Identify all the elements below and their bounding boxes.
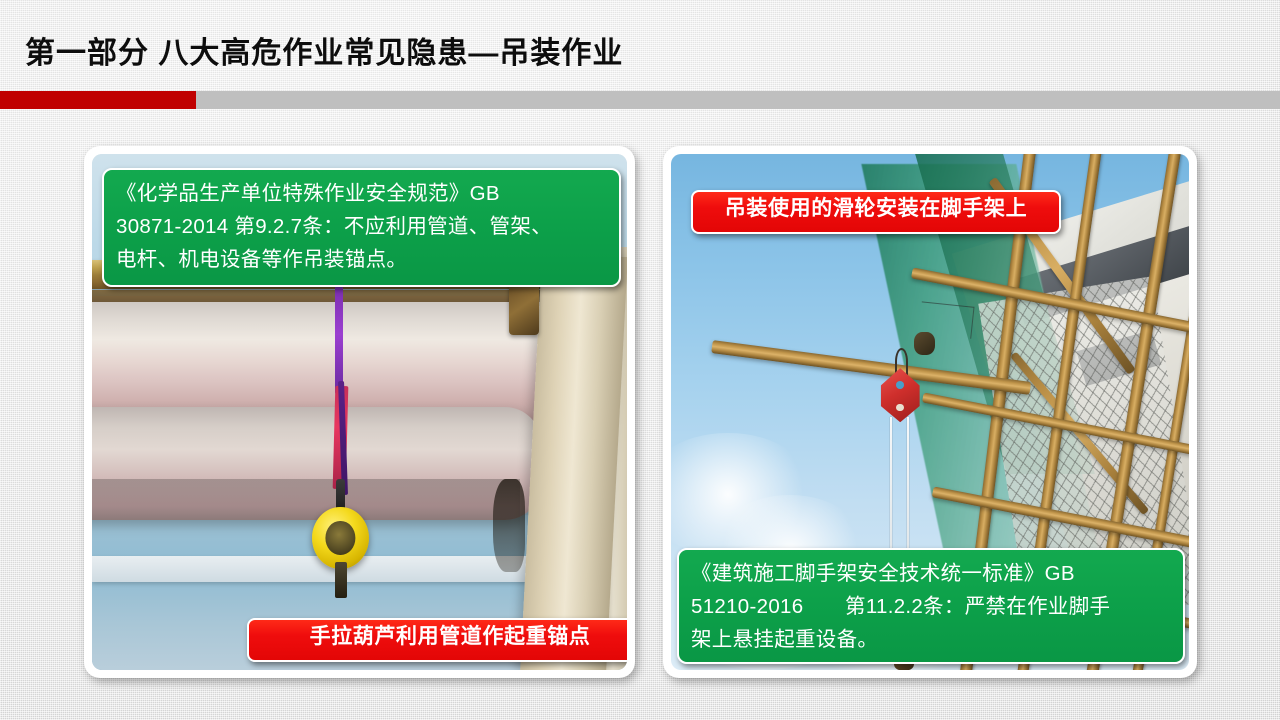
standard-note-right: 《建筑施工脚手架安全技术统一标准》GB 51210-2016 第11.2.2条：… (677, 548, 1185, 664)
pipe-shadow (92, 479, 520, 531)
hoist-chain (335, 562, 347, 598)
page-title: 第一部分 八大高危作业常见隐患—吊装作业 (25, 28, 623, 72)
slide-canvas: 第一部分 八大高危作业常见隐患—吊装作业 《化学品生产单位特殊 (0, 0, 1280, 720)
standard-note-left: 《化学品生产单位特殊作业安全规范》GB 30871-2014 第9.2.7条：不… (102, 168, 621, 287)
pulley-sheave-upper (896, 381, 904, 389)
chain-hoist-wheel (326, 521, 355, 555)
beam-clamp (509, 283, 538, 335)
pulley-sheave-lower (896, 404, 904, 412)
hazard-caption-right: 吊装使用的滑轮安装在脚手架上 (691, 190, 1061, 234)
yellow-chain-hoist (312, 507, 368, 569)
rope-knot (914, 332, 935, 355)
lifting-sling-purple (335, 286, 343, 394)
pipe-chain-hoist-photo: 《化学品生产单位特殊作业安全规范》GB 30871-2014 第9.2.7条：不… (92, 154, 627, 670)
content-panel-left[interactable]: 《化学品生产单位特殊作业安全规范》GB 30871-2014 第9.2.7条：不… (84, 146, 635, 678)
hazard-caption-left: 手拉葫芦利用管道作起重锚点 (247, 618, 627, 662)
header-rule-red (0, 91, 196, 109)
scaffold-pulley-photo: 吊装使用的滑轮安装在脚手架上 《建筑施工脚手架安全技术统一标准》GB 51210… (671, 154, 1189, 670)
content-panel-right[interactable]: 吊装使用的滑轮安装在脚手架上 《建筑施工脚手架安全技术统一标准》GB 51210… (663, 146, 1197, 678)
dark-shadow-area (493, 479, 525, 572)
